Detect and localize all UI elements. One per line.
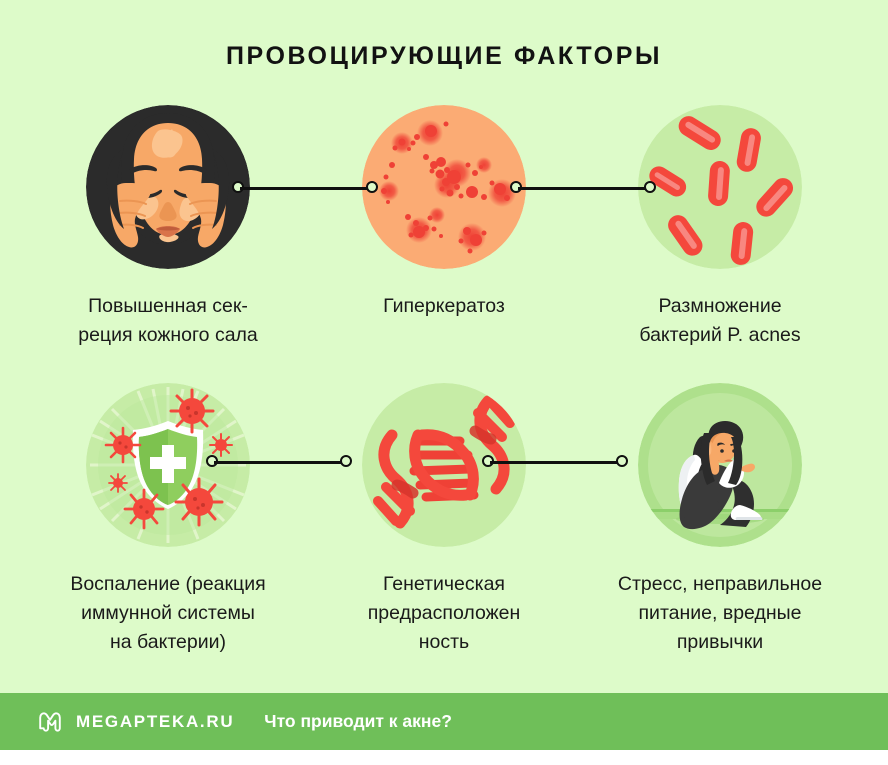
footer-brand-name[interactable]: MEGAPTEKA.RU bbox=[76, 712, 234, 732]
caption-line: Генетическая bbox=[296, 570, 592, 599]
connector-genetic-to-stress bbox=[482, 454, 628, 470]
factor-caption: Повышенная сек- реция кожного сала bbox=[20, 292, 316, 350]
caption-line: на бактерии) bbox=[20, 628, 316, 657]
factor-item-hyperkeratosis: Гиперкератоз bbox=[296, 105, 592, 321]
factor-item-stress-diet-habits: Стресс, неправильное питание, вредные пр… bbox=[572, 383, 868, 657]
bottom-white-strip bbox=[0, 750, 888, 765]
factor-caption: Воспаление (реакция иммунной системы на … bbox=[20, 570, 316, 657]
caption-line: бактерий P. acnes bbox=[572, 321, 868, 350]
sad-person-sitting-illustration bbox=[638, 383, 802, 547]
connector-hyperkeratosis-to-bacteria bbox=[510, 180, 656, 196]
connector-line bbox=[518, 187, 648, 190]
megapteka-m-logo-icon[interactable] bbox=[37, 709, 63, 735]
connector-sebum-to-hyperkeratosis bbox=[232, 180, 378, 196]
factor-item-genetic-predisposition: Генетическая предрасположен ность bbox=[296, 383, 592, 657]
connector-line bbox=[240, 187, 370, 190]
caption-line: иммунной системы bbox=[20, 599, 316, 628]
factor-caption: Стресс, неправильное питание, вредные пр… bbox=[572, 570, 868, 657]
caption-line: Повышенная сек- bbox=[20, 292, 316, 321]
footer-bar: MEGAPTEKA.RU Что приводит к акне? bbox=[0, 693, 888, 750]
caption-line: привычки bbox=[572, 628, 868, 657]
connector-node-right bbox=[366, 181, 378, 193]
connector-line bbox=[214, 461, 344, 464]
caption-line: ность bbox=[296, 628, 592, 657]
factor-caption: Гиперкератоз bbox=[296, 292, 592, 321]
connector-node-right bbox=[616, 455, 628, 467]
caption-line: Размножение bbox=[572, 292, 868, 321]
factor-caption: Генетическая предрасположен ность bbox=[296, 570, 592, 657]
factor-caption: Размножение бактерий P. acnes bbox=[572, 292, 868, 350]
factor-item-inflammation: Воспаление (реакция иммунной системы на … bbox=[20, 383, 316, 657]
caption-line: Воспаление (реакция bbox=[20, 570, 316, 599]
caption-line: питание, вредные bbox=[572, 599, 868, 628]
caption-line: реция кожного сала bbox=[20, 321, 316, 350]
factor-item-bacteria-growth: Размножение бактерий P. acnes bbox=[572, 105, 868, 350]
connector-node-right bbox=[644, 181, 656, 193]
poster-content-area: Провоцирующие факторы bbox=[0, 0, 888, 693]
rod-bacteria-illustration bbox=[638, 105, 802, 269]
factor-item-sebum-secretion: Повышенная сек- реция кожного сала bbox=[20, 105, 316, 350]
caption-line: Стресс, неправильное bbox=[572, 570, 868, 599]
connector-inflammation-to-genetic bbox=[206, 454, 352, 470]
infographic-poster: Провоцирующие факторы bbox=[0, 0, 888, 765]
connector-node-right bbox=[340, 455, 352, 467]
connector-line bbox=[490, 461, 620, 464]
caption-line: Гиперкератоз bbox=[296, 292, 592, 321]
caption-line: предрасположен bbox=[296, 599, 592, 628]
acne-spotted-skin-illustration bbox=[362, 105, 526, 269]
face-touching-cheeks-illustration bbox=[86, 105, 250, 269]
page-title: Провоцирующие факторы bbox=[0, 42, 888, 71]
footer-tagline: Что приводит к акне? bbox=[264, 711, 452, 732]
